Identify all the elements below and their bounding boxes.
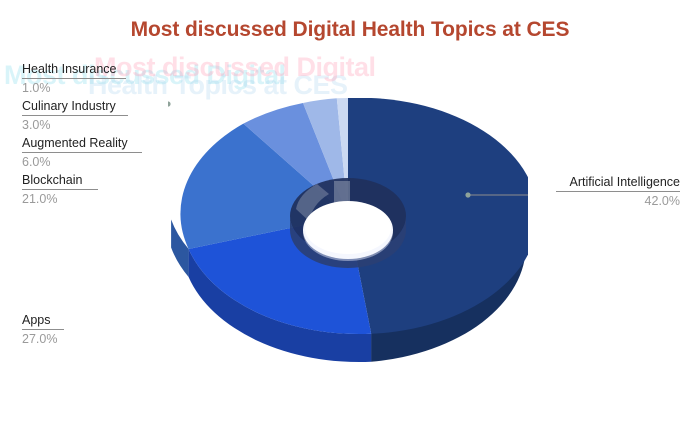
callout-health-insurance[interactable]: Health Insurance 1.0% (22, 62, 126, 96)
donut-hole-cap-top (305, 202, 391, 254)
chart-title: Most discussed Digital Health Topics at … (0, 18, 700, 42)
pie-chart (168, 98, 528, 368)
leader-dot-artificial-intelligence (465, 192, 470, 197)
callout-label-augmented-reality: Augmented Reality (22, 136, 142, 152)
callout-value-health-insurance: 1.0% (22, 79, 126, 96)
callout-value-blockchain: 21.0% (22, 190, 98, 207)
callout-artificial-intelligence[interactable]: Artificial Intelligence 42.0% (556, 175, 680, 209)
ghost-title-pink: Most discussed Digital (94, 52, 376, 83)
callout-augmented-reality[interactable]: Augmented Reality 6.0% (22, 136, 142, 170)
callout-value-apps: 27.0% (22, 330, 64, 347)
callout-value-artificial-intelligence: 42.0% (556, 192, 680, 209)
callout-value-culinary-industry: 3.0% (22, 116, 128, 133)
callout-value-augmented-reality: 6.0% (22, 153, 142, 170)
pie-chart-svg (168, 98, 528, 368)
chart-canvas: Most discussed Digital Health Topics at … (0, 0, 700, 432)
callout-culinary-industry[interactable]: Culinary Industry 3.0% (22, 99, 128, 133)
callout-apps[interactable]: Apps 27.0% (22, 313, 64, 347)
callout-label-culinary-industry: Culinary Industry (22, 99, 128, 115)
donut-hole (290, 178, 406, 268)
callout-label-health-insurance: Health Insurance (22, 62, 126, 78)
callout-label-blockchain: Blockchain (22, 173, 98, 189)
callout-label-apps: Apps (22, 313, 64, 329)
callout-label-artificial-intelligence: Artificial Intelligence (556, 175, 680, 191)
callout-blockchain[interactable]: Blockchain 21.0% (22, 173, 98, 207)
leader-dot-health-insurance (168, 101, 171, 106)
ghost-title-blue: Health Topics at CES (88, 70, 348, 101)
